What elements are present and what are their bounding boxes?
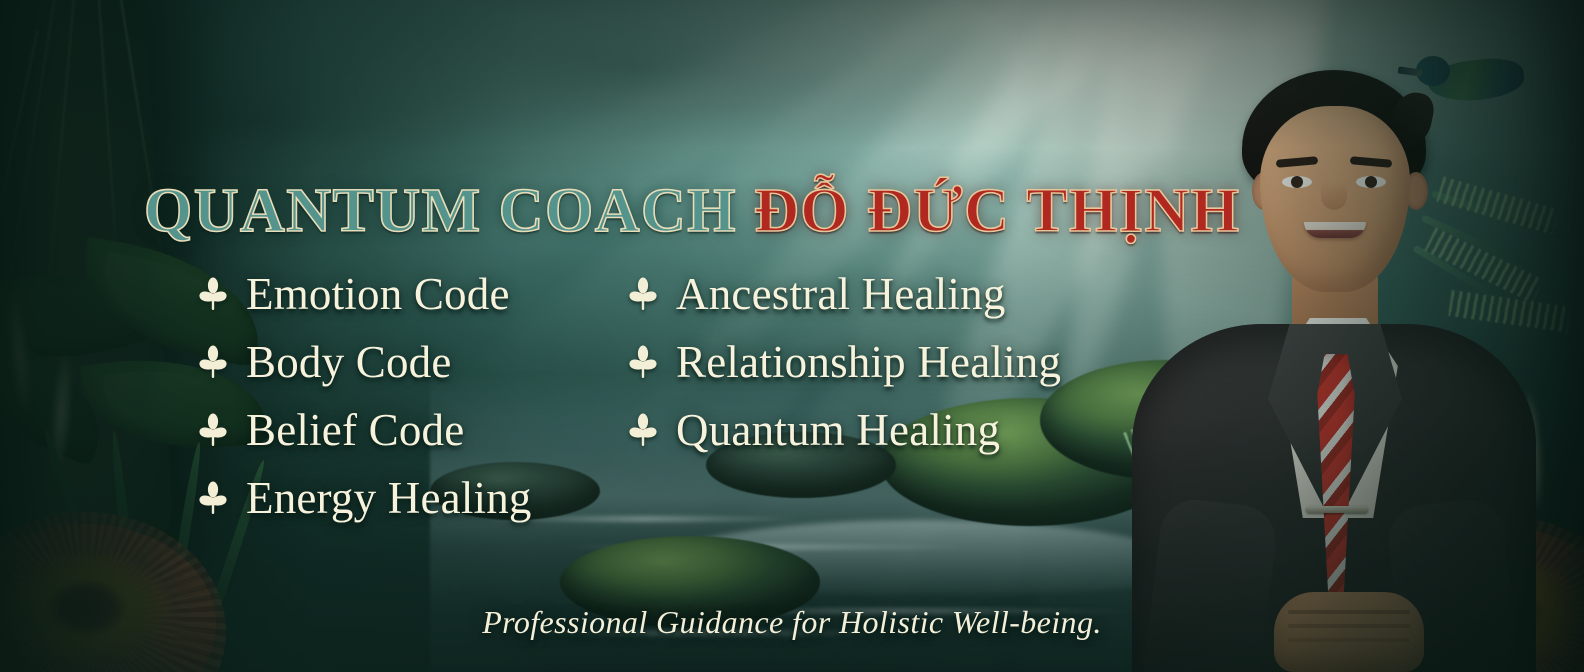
- services-lists: Emotion Code Body Code: [198, 268, 1198, 523]
- list-item[interactable]: Belief Code: [198, 404, 628, 455]
- list-item[interactable]: Quantum Healing: [628, 404, 1148, 455]
- list-item[interactable]: Body Code: [198, 336, 628, 387]
- sprout-icon: [198, 277, 228, 311]
- list-item-label: Belief Code: [246, 404, 464, 456]
- sprout-icon: [198, 345, 228, 379]
- list-item-label: Energy Healing: [246, 472, 532, 524]
- banner-content: QUANTUM COACH ĐỖ ĐỨC THỊNH: [0, 0, 1584, 672]
- sprout-icon: [628, 277, 658, 311]
- list-item[interactable]: Emotion Code: [198, 268, 628, 319]
- list-item[interactable]: Energy Healing: [198, 472, 628, 523]
- list-item-label: Ancestral Healing: [676, 268, 1006, 320]
- page-title: QUANTUM COACH ĐỖ ĐỨC THỊNH: [144, 178, 1204, 245]
- sprout-icon: [198, 481, 228, 515]
- list-item-label: Quantum Healing: [676, 404, 1000, 456]
- list-item-label: Body Code: [246, 336, 452, 388]
- tagline: Professional Guidance for Holistic Well-…: [0, 604, 1584, 641]
- hero-banner: QUANTUM COACH ĐỖ ĐỨC THỊNH: [0, 0, 1584, 672]
- list-item-label: Relationship Healing: [676, 336, 1061, 388]
- sprout-icon: [628, 413, 658, 447]
- services-column-right: Ancestral Healing Relation: [628, 268, 1148, 523]
- title-teal-part: QUANTUM COACH: [144, 177, 737, 245]
- list-item[interactable]: Relationship Healing: [628, 336, 1148, 387]
- title-red-part: ĐỖ ĐỨC THỊNH: [754, 177, 1240, 245]
- list-item-label: Emotion Code: [246, 268, 510, 320]
- sprout-icon: [198, 413, 228, 447]
- services-column-left: Emotion Code Body Code: [198, 268, 628, 523]
- list-item[interactable]: Ancestral Healing: [628, 268, 1148, 319]
- sprout-icon: [628, 345, 658, 379]
